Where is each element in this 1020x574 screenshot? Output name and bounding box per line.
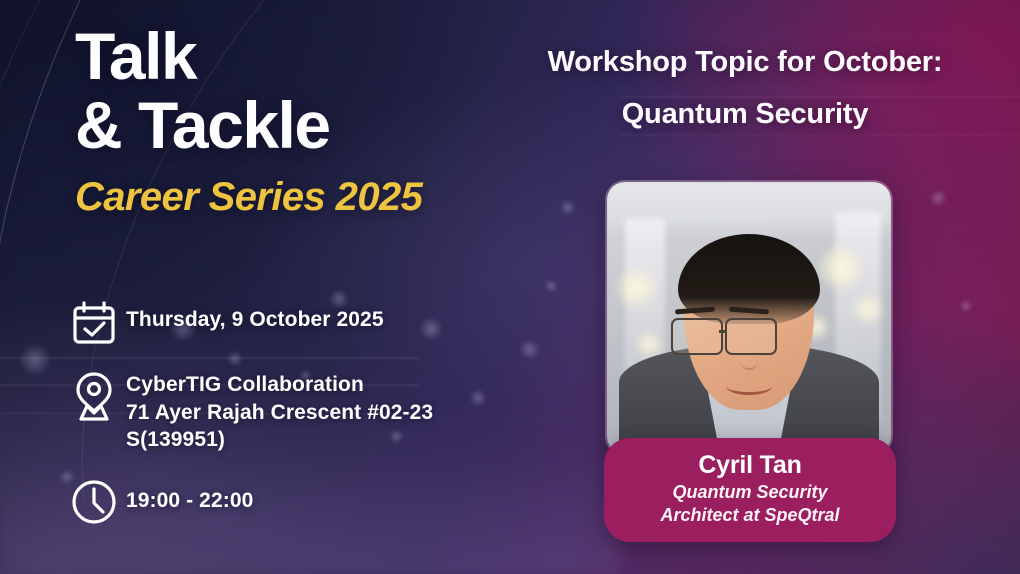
detail-line: S(139951) <box>126 426 433 454</box>
photo-bokeh <box>853 294 883 324</box>
poster-title-block: Talk & Tackle Career Series 2025 <box>75 24 545 220</box>
speaker-photo <box>607 182 891 454</box>
clock-icon <box>62 476 126 526</box>
detail-line: CyberTIG Collaboration <box>126 371 433 399</box>
speaker-nameplate: Cyril Tan Quantum Security Architect at … <box>604 438 896 542</box>
location-pin-icon <box>62 368 126 422</box>
photo-bokeh <box>819 246 863 290</box>
speaker-name: Cyril Tan <box>620 452 880 478</box>
photo-bokeh <box>617 268 657 308</box>
workshop-topic-label: Workshop Topic for October: <box>505 46 985 79</box>
photo-glasses-bridge <box>719 330 727 333</box>
workshop-topic-block: Workshop Topic for October: Quantum Secu… <box>505 46 985 131</box>
detail-row-time: 19:00 - 22:00 <box>62 476 542 526</box>
photo-nose <box>740 348 758 370</box>
detail-text-date: Thursday, 9 October 2025 <box>126 298 384 334</box>
photo-glasses-lens <box>671 318 723 355</box>
calendar-check-icon <box>62 298 126 346</box>
photo-smile <box>726 378 772 395</box>
detail-line: 19:00 - 22:00 <box>126 487 253 515</box>
event-poster: Talk & Tackle Career Series 2025 Thursda… <box>0 0 1020 574</box>
poster-title-line2: & Tackle <box>75 93 545 158</box>
detail-line: Thursday, 9 October 2025 <box>126 306 384 334</box>
detail-text-venue: CyberTIG Collaboration 71 Ayer Rajah Cre… <box>126 368 433 454</box>
speaker-role-line2: Architect at SpeQtral <box>620 504 880 527</box>
speaker-role: Quantum Security Architect at SpeQtral <box>620 481 880 526</box>
speaker-role-line1: Quantum Security <box>620 481 880 504</box>
detail-line: 71 Ayer Rajah Crescent #02-23 <box>126 399 433 427</box>
detail-text-time: 19:00 - 22:00 <box>126 476 253 515</box>
event-details: Thursday, 9 October 2025 CyberTIG Collab… <box>62 298 542 548</box>
poster-title-line1: Talk <box>75 24 545 89</box>
photo-bokeh <box>637 332 661 356</box>
workshop-topic-value: Quantum Security <box>505 98 985 131</box>
detail-row-date: Thursday, 9 October 2025 <box>62 298 542 346</box>
poster-subtitle: Career Series 2025 <box>75 175 545 220</box>
detail-row-venue: CyberTIG Collaboration 71 Ayer Rajah Cre… <box>62 368 542 454</box>
